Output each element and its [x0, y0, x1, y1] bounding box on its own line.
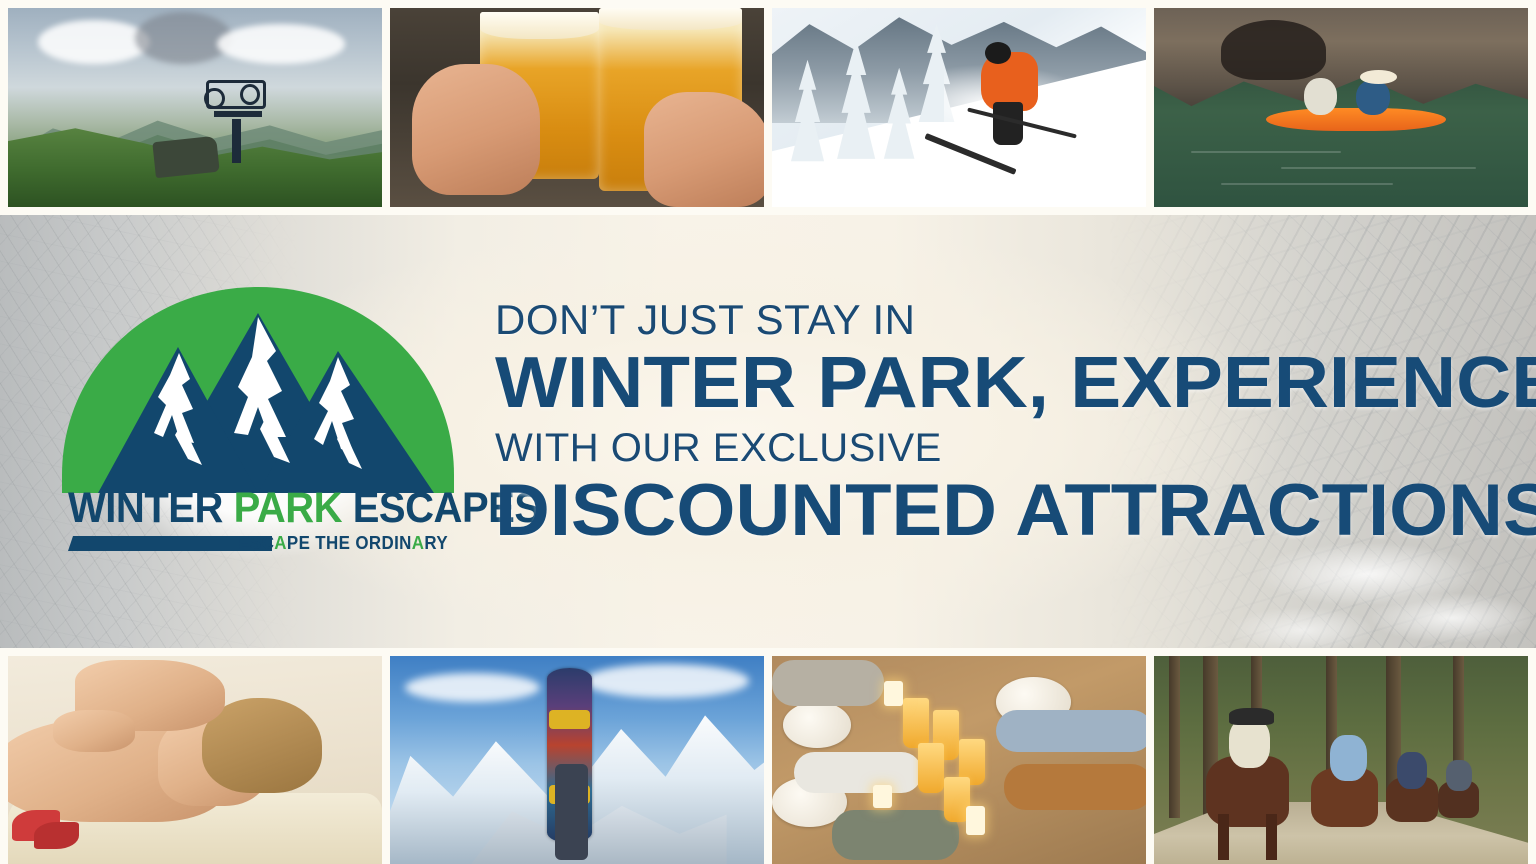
logo-wordmark: WINTER PARK ESCAPES: [68, 487, 421, 530]
beer-foam: [599, 8, 741, 30]
cloud-shape: [217, 24, 344, 64]
photo-kayaking: [1154, 8, 1528, 207]
therapist-hand: [53, 710, 135, 752]
candle: [873, 785, 892, 808]
headline-block: DON’T JUST STAY IN WINTER PARK, EXPERIEN…: [495, 299, 1490, 547]
logo-tagline-row: ESCAPE THE ORDINARY: [68, 533, 448, 555]
tagline-pe-the-ordin: PE THE ORDIN: [287, 533, 412, 553]
hand-holding-glass: [412, 64, 539, 195]
cowboy-hat: [1229, 708, 1274, 725]
cloud-shape: [584, 664, 749, 697]
mountain-logo-icon: [62, 287, 454, 493]
cyclist-arms: [214, 111, 263, 117]
snowboarder-body: [555, 764, 589, 860]
rock-outcrop: [152, 136, 219, 178]
logo-tagline: ESCAPE THE ORDINARY: [238, 533, 448, 554]
drink-glass: [903, 698, 929, 748]
photo-spa-massage: [8, 656, 382, 864]
rider: [1397, 752, 1427, 789]
sun-hat: [1360, 70, 1397, 84]
photo-mountain-biking: [8, 8, 382, 207]
rider: [1446, 760, 1472, 791]
horse-leg: [1266, 814, 1277, 860]
tagline-ry: RY: [424, 533, 448, 553]
rider: [1330, 735, 1367, 781]
winter-park-escapes-logo[interactable]: WINTER PARK ESCAPES ESCAPE THE ORDINARY: [62, 287, 454, 577]
diner-arm: [996, 710, 1146, 752]
drink-glass: [918, 743, 944, 793]
diner-arm: [772, 660, 884, 706]
diner-arm: [832, 810, 959, 860]
photo-beer-cheers: [390, 8, 764, 207]
diner-arm: [1004, 764, 1146, 810]
water-ripple: [1281, 167, 1475, 169]
cloud-shape: [38, 20, 150, 64]
promo-banner: WINTER PARK ESCAPES ESCAPE THE ORDINARY …: [0, 215, 1536, 648]
top-photo-strip: [0, 8, 1536, 207]
kayak: [1266, 108, 1446, 132]
tagline-a2: A: [412, 533, 425, 553]
wordmark-winter: WINTER: [68, 484, 234, 532]
cloud-shape: [135, 12, 232, 64]
cave-opening: [1221, 20, 1326, 80]
water-ripple: [1221, 183, 1393, 185]
tagline-a1: A: [274, 533, 287, 553]
skier-helmet: [985, 42, 1011, 64]
headline-line-3: WITH OUR EXCLUSIVE: [495, 428, 1490, 469]
tree-trunk: [1169, 656, 1180, 818]
headline-line-2: WINTER PARK, EXPERIENCE IT: [495, 348, 1536, 419]
paddler-front: [1304, 78, 1338, 116]
photo-dining-toast: [772, 656, 1146, 864]
water-ripple: [1191, 151, 1341, 153]
cyclist-figure: [232, 119, 240, 163]
headline-line-4: DISCOUNTED ATTRACTIONS: [495, 475, 1530, 547]
hand-holding-glass: [644, 92, 764, 207]
tagline-esc: ESC: [238, 533, 274, 553]
photo-skiing: [772, 8, 1146, 207]
horse-leg: [1218, 814, 1229, 860]
candle: [884, 681, 903, 706]
cloud-shape: [405, 673, 540, 702]
diner-arm: [794, 752, 921, 794]
bottom-photo-strip: [0, 656, 1536, 864]
bicycle-wheel: [204, 88, 225, 110]
candle: [966, 806, 985, 835]
wordmark-park: PARK: [234, 484, 342, 532]
headline-line-1: DON’T JUST STAY IN: [495, 299, 1490, 342]
paddler-back: [1356, 80, 1390, 116]
board-binding: [549, 710, 590, 729]
rider: [1229, 718, 1270, 768]
photo-horseback-riding: [1154, 656, 1528, 864]
plate: [783, 702, 850, 748]
beer-foam: [480, 12, 600, 39]
photo-snowboarding: [390, 656, 764, 864]
